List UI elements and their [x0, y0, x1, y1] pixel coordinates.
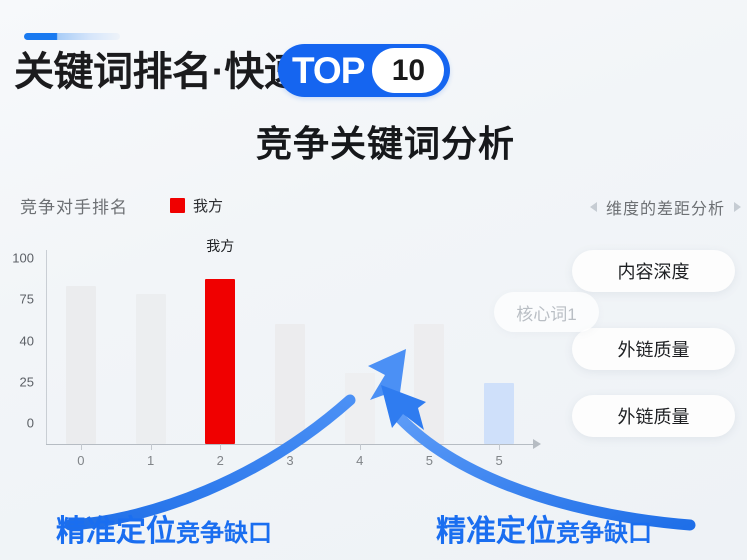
dimension-panel-title: 维度的差距分析: [606, 195, 725, 219]
caption-right: 精准定位 竞争缺口: [436, 506, 652, 550]
y-axis-tick-label: 25: [0, 374, 34, 389]
highlight-bar-label: 我方: [206, 236, 234, 256]
x-axis-tick-mark: [290, 444, 291, 450]
chevron-right-icon[interactable]: [734, 202, 741, 212]
caption-right-weak: 竞争缺口: [556, 513, 652, 548]
top-badge: TOP 10: [278, 44, 450, 97]
dimension-card[interactable]: 内容深度: [572, 250, 735, 292]
chart-legend: 我方: [170, 195, 223, 216]
dimension-card-label: 外链质量: [618, 336, 690, 362]
progress-decoration: [24, 33, 120, 40]
chart-header: 竞争对手排名 我方: [20, 193, 223, 218]
x-axis-tick-label: 1: [147, 453, 154, 468]
top-badge-label: TOP: [292, 52, 364, 89]
x-axis-tick-label: 5: [496, 453, 503, 468]
x-axis-arrow-icon: [533, 439, 541, 449]
caption-right-strong: 精准定位: [436, 506, 556, 550]
keyword-ghost-pill[interactable]: 核心词1: [494, 292, 599, 332]
headline: 关键词排名·快速: [14, 45, 303, 99]
x-axis-tick-mark: [81, 444, 82, 450]
dimension-card-label: 外链质量: [618, 403, 690, 429]
x-axis-tick-mark: [499, 444, 500, 450]
dimension-card[interactable]: 外链质量: [572, 395, 735, 437]
bar: [345, 373, 375, 444]
x-axis-tick-mark: [360, 444, 361, 450]
x-axis-tick-label: 2: [217, 453, 224, 468]
x-axis-tick-mark: [220, 444, 221, 450]
y-axis-tick-label: 100: [0, 251, 34, 266]
y-axis-tick-label: 0: [0, 416, 34, 431]
bar-chart-plot: 1007540250 0123455 我方: [0, 250, 560, 465]
caption-left-weak: 竞争缺口: [176, 513, 272, 548]
x-axis-tick-label: 3: [286, 453, 293, 468]
dimension-card[interactable]: 外链质量: [572, 328, 735, 370]
x-axis-tick-mark: [151, 444, 152, 450]
bar: [275, 324, 305, 444]
bar: [484, 383, 514, 444]
caption-left-strong: 精准定位: [56, 506, 176, 550]
y-axis-tick-label: 40: [0, 333, 34, 348]
bar-highlight: [205, 279, 235, 444]
dimension-panel-header: 维度的差距分析: [590, 195, 741, 219]
legend-swatch-icon: [170, 198, 185, 213]
x-axis-tick-label: 5: [426, 453, 433, 468]
legend-label: 我方: [193, 195, 223, 216]
bar: [136, 294, 166, 444]
page-subtitle: 竞争关键词分析: [0, 115, 747, 167]
x-axis-tick-label: 0: [77, 453, 84, 468]
caption-left: 精准定位 竞争缺口: [56, 506, 272, 550]
top-badge-count: 10: [372, 48, 444, 93]
y-axis-tick-label: 75: [0, 292, 34, 307]
dimension-card-label: 内容深度: [618, 258, 690, 284]
x-axis-tick-mark: [429, 444, 430, 450]
y-axis-line: [46, 250, 47, 444]
chart-title: 竞争对手排名: [20, 193, 128, 218]
bar: [414, 324, 444, 444]
chevron-left-icon[interactable]: [590, 202, 597, 212]
bar: [66, 286, 96, 444]
x-axis-tick-label: 4: [356, 453, 363, 468]
headline-text: 关键词排名·快速: [14, 52, 303, 92]
